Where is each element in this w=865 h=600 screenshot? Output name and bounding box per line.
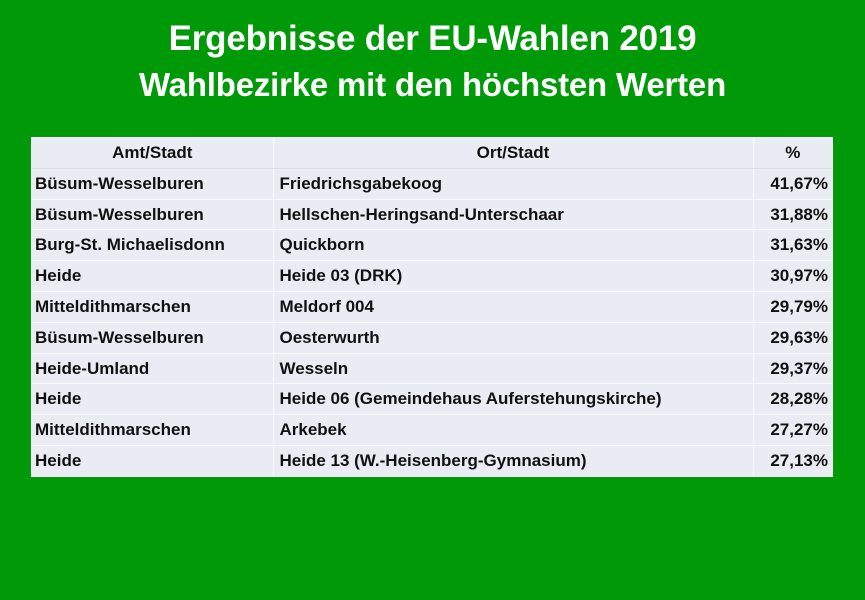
- cell-ort-stadt: Heide 13 (W.-Heisenberg-Gymnasium): [273, 445, 753, 475]
- cell-percent: 27,27%: [753, 415, 832, 446]
- cell-amt-stadt: Heide-Umland: [32, 353, 273, 384]
- table-row: Büsum-WesselburenHellschen-Heringsand-Un…: [32, 199, 832, 230]
- cell-percent: 29,37%: [753, 353, 832, 384]
- cell-ort-stadt: Heide 03 (DRK): [273, 261, 753, 292]
- cell-ort-stadt: Meldorf 004: [273, 291, 753, 322]
- table-row: Burg-St. MichaelisdonnQuickborn31,63%: [32, 230, 832, 261]
- cell-amt-stadt: Heide: [32, 384, 273, 415]
- table-row: Büsum-WesselburenFriedrichsgabekoog41,67…: [32, 168, 832, 199]
- column-header-percent: %: [753, 138, 832, 168]
- cell-amt-stadt: Heide: [32, 445, 273, 475]
- cell-amt-stadt: Mitteldithmarschen: [32, 291, 273, 322]
- cell-percent: 29,79%: [753, 291, 832, 322]
- cell-amt-stadt: Büsum-Wesselburen: [32, 322, 273, 353]
- poster-root: Ergebnisse der EU-Wahlen 2019 Wahlbezirk…: [0, 0, 865, 600]
- results-table: Amt/Stadt Ort/Stadt % Büsum-WesselburenF…: [32, 138, 832, 476]
- cell-ort-stadt: Quickborn: [273, 230, 753, 261]
- cell-amt-stadt: Burg-St. Michaelisdonn: [32, 230, 273, 261]
- cell-percent: 29,63%: [753, 322, 832, 353]
- table-body: Büsum-WesselburenFriedrichsgabekoog41,67…: [32, 168, 832, 475]
- results-table-container: Amt/Stadt Ort/Stadt % Büsum-WesselburenF…: [31, 137, 833, 477]
- table-row: MitteldithmarschenArkebek27,27%: [32, 415, 832, 446]
- cell-amt-stadt: Heide: [32, 261, 273, 292]
- page-subtitle: Wahlbezirke mit den höchsten Werten: [0, 65, 865, 105]
- table-header: Amt/Stadt Ort/Stadt %: [32, 138, 832, 168]
- table-row: Büsum-WesselburenOesterwurth29,63%: [32, 322, 832, 353]
- cell-ort-stadt: Hellschen-Heringsand-Unterschaar: [273, 199, 753, 230]
- page-title: Ergebnisse der EU-Wahlen 2019: [0, 18, 865, 60]
- table-header-row: Amt/Stadt Ort/Stadt %: [32, 138, 832, 168]
- column-header-amt-stadt: Amt/Stadt: [32, 138, 273, 168]
- table-row: HeideHeide 03 (DRK)30,97%: [32, 261, 832, 292]
- cell-ort-stadt: Heide 06 (Gemeindehaus Auferstehungskirc…: [273, 384, 753, 415]
- cell-percent: 31,63%: [753, 230, 832, 261]
- cell-amt-stadt: Mitteldithmarschen: [32, 415, 273, 446]
- table-row: Heide-UmlandWesseln29,37%: [32, 353, 832, 384]
- title-block: Ergebnisse der EU-Wahlen 2019 Wahlbezirk…: [0, 0, 865, 105]
- cell-ort-stadt: Wesseln: [273, 353, 753, 384]
- cell-percent: 31,88%: [753, 199, 832, 230]
- cell-percent: 30,97%: [753, 261, 832, 292]
- cell-amt-stadt: Büsum-Wesselburen: [32, 168, 273, 199]
- cell-percent: 27,13%: [753, 445, 832, 475]
- table-row: HeideHeide 06 (Gemeindehaus Auferstehung…: [32, 384, 832, 415]
- cell-ort-stadt: Friedrichsgabekoog: [273, 168, 753, 199]
- cell-ort-stadt: Arkebek: [273, 415, 753, 446]
- cell-amt-stadt: Büsum-Wesselburen: [32, 199, 273, 230]
- table-row: HeideHeide 13 (W.-Heisenberg-Gymnasium)2…: [32, 445, 832, 475]
- column-header-ort-stadt: Ort/Stadt: [273, 138, 753, 168]
- cell-percent: 28,28%: [753, 384, 832, 415]
- cell-percent: 41,67%: [753, 168, 832, 199]
- cell-ort-stadt: Oesterwurth: [273, 322, 753, 353]
- table-row: MitteldithmarschenMeldorf 00429,79%: [32, 291, 832, 322]
